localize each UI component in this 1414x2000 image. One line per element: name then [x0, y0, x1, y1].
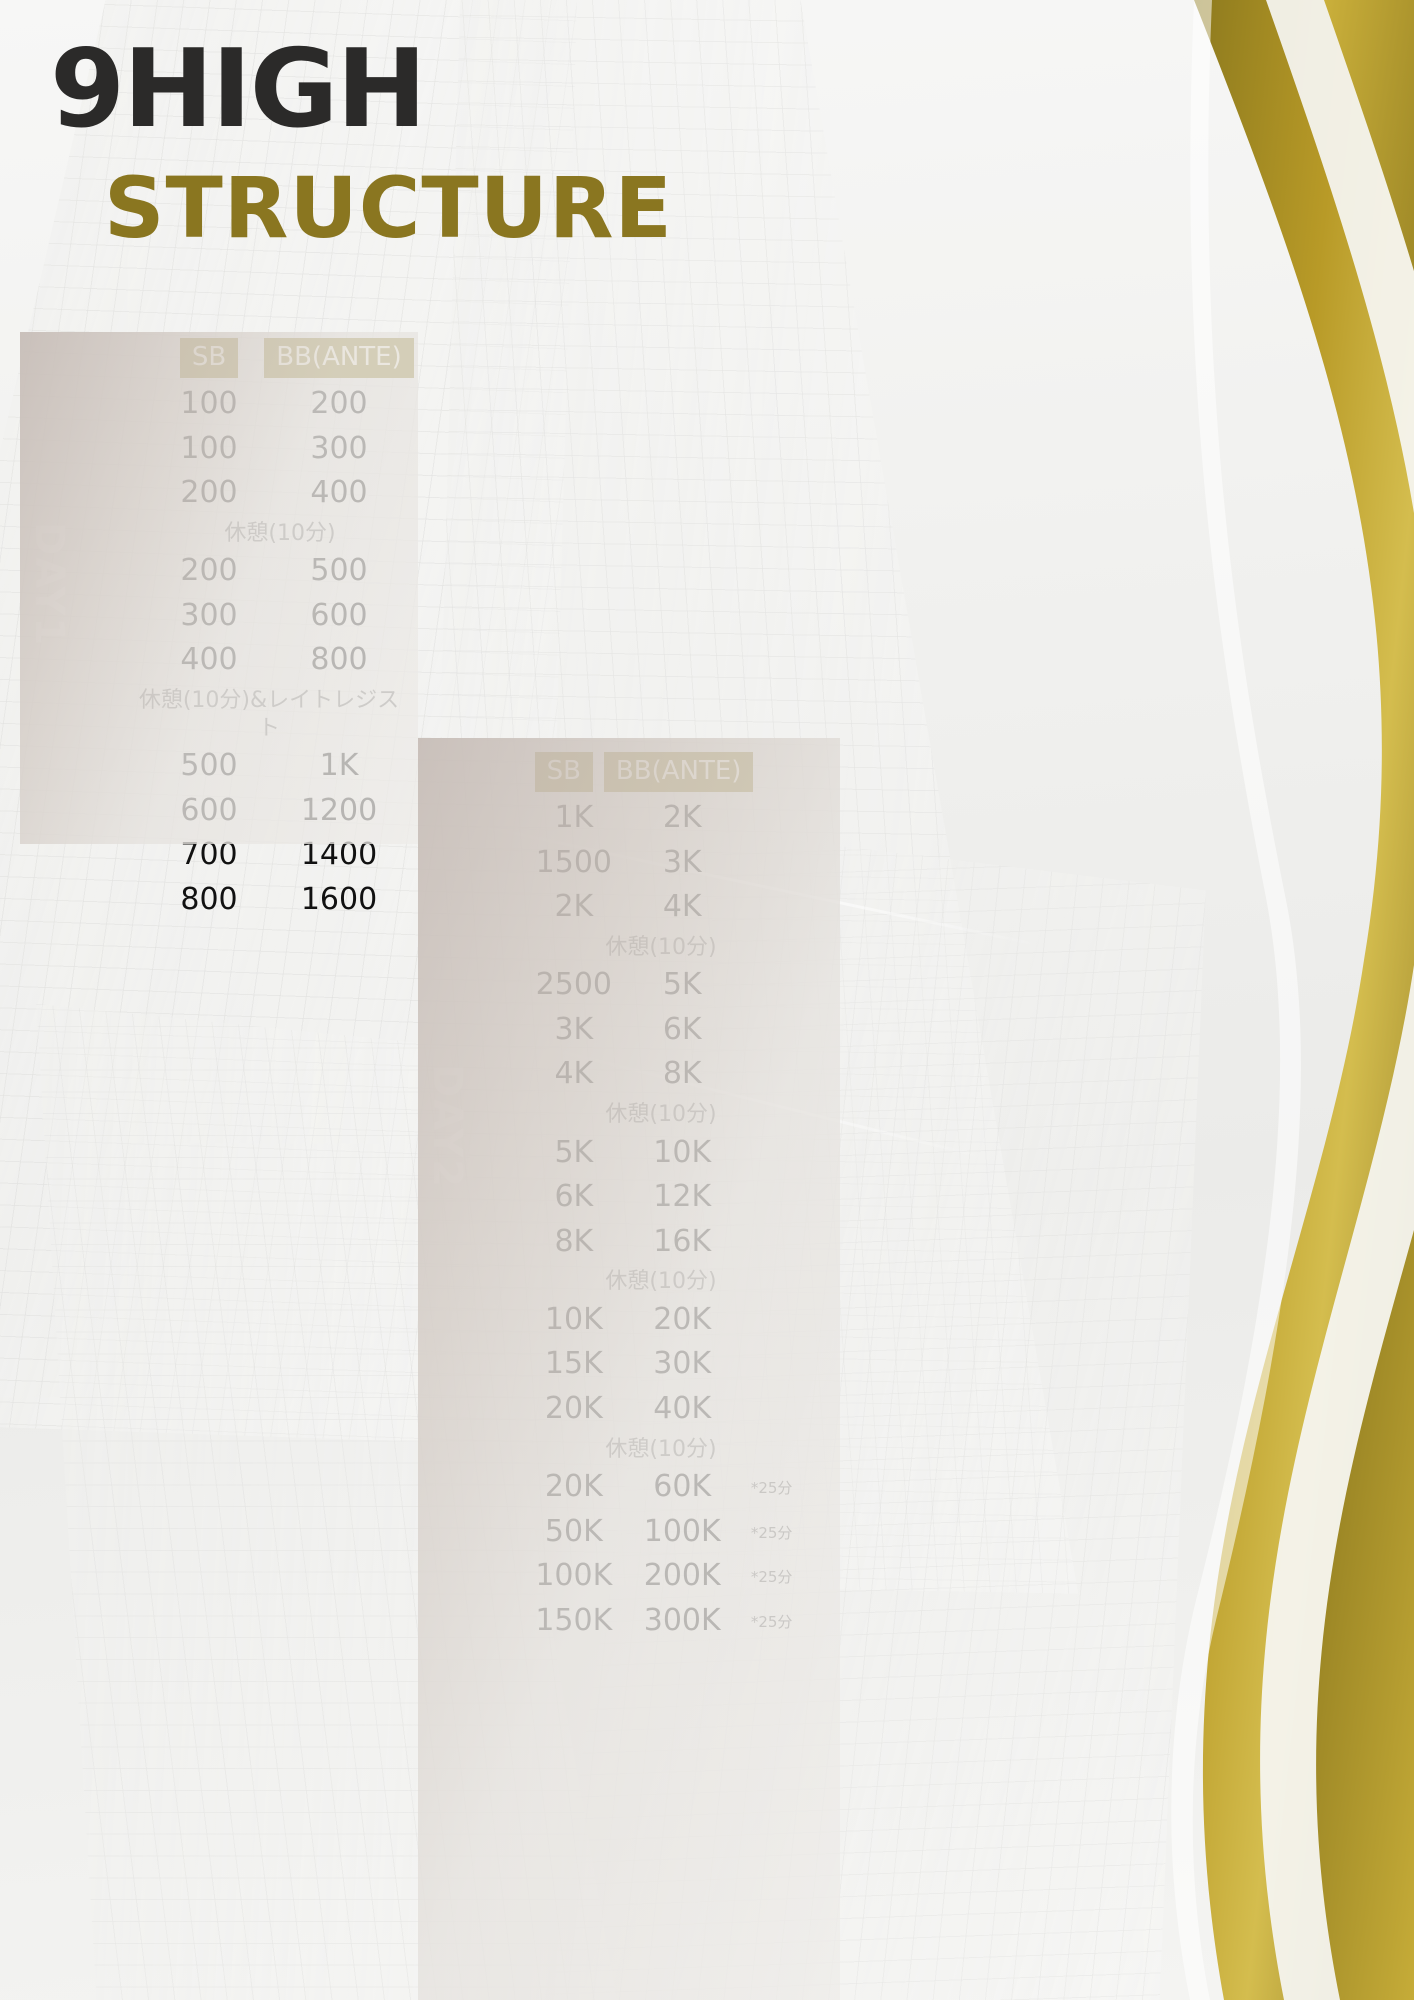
day2-panel: [418, 738, 840, 2000]
bb-value: 1600: [268, 882, 410, 919]
page-title: 9HIGH: [50, 36, 673, 144]
page-subtitle: STRUCTURE: [104, 166, 673, 250]
title-block: 9HIGH STRUCTURE: [50, 36, 673, 250]
level-row: 8001600: [150, 882, 410, 919]
sb-value: 800: [150, 882, 268, 919]
day1-panel: [20, 332, 418, 844]
